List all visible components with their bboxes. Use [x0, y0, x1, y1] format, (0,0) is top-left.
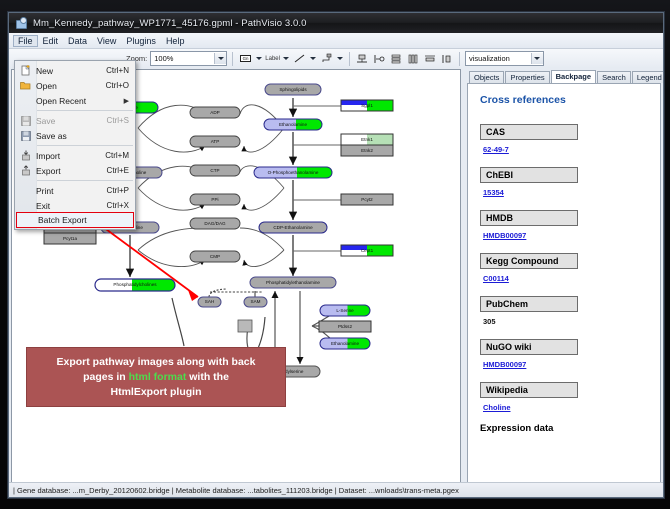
node-ppi: PPi — [190, 194, 240, 205]
annotation-line-2: pages in html format with the — [83, 370, 229, 385]
menu-item-label: Save as — [36, 131, 129, 141]
node-ethanolamine-bottom[interactable]: Ethanolamine — [320, 338, 370, 349]
gene-pcyt2[interactable]: Pcyt2 — [341, 194, 393, 205]
new-document-icon — [15, 63, 36, 78]
menu-item-import[interactable]: Import Ctrl+M — [15, 148, 135, 163]
menu-item-label: Save — [36, 116, 107, 126]
xref-source-label: Wikipedia — [480, 382, 578, 398]
menu-item-open-recent[interactable]: Open Recent ▶ — [15, 93, 135, 108]
annotation-highlight: html format — [129, 371, 187, 383]
menu-divider-3 — [37, 180, 133, 181]
screen-root: Mm_Kennedy_pathway_WP1771_45176.gpml - P… — [0, 0, 670, 509]
window-title: Mm_Kennedy_pathway_WP1771_45176.gpml - P… — [33, 18, 307, 29]
svg-text:Phosphatidylcholines: Phosphatidylcholines — [113, 282, 157, 287]
menu-divider-2 — [37, 145, 133, 146]
menu-item-label: Export — [36, 166, 107, 176]
open-folder-icon — [15, 78, 36, 93]
svg-text:ADP: ADP — [210, 110, 219, 115]
menu-item-print[interactable]: Print Ctrl+P — [15, 183, 135, 198]
cross-references-heading: Cross references — [480, 94, 650, 106]
menu-item-label: New — [36, 66, 106, 76]
pathvisio-icon — [15, 17, 27, 29]
gene-sgpl1[interactable]: Sgpl1 — [341, 100, 393, 111]
toolbar-separator-2 — [349, 52, 350, 66]
xref-value-link[interactable]: HMDB00097 — [480, 360, 650, 369]
node-cdp-ethanolamine[interactable]: CDP-Ethanolamine — [259, 222, 327, 233]
gene-ptdss2[interactable]: Ptdss2 — [319, 321, 371, 332]
svg-text:SAH: SAH — [205, 299, 214, 304]
menu-item-shortcut: Ctrl+S — [107, 116, 135, 125]
svg-text:PPi: PPi — [211, 197, 218, 202]
save-as-icon — [15, 128, 36, 143]
menu-view[interactable]: View — [92, 35, 121, 47]
submenu-arrow-icon: ▶ — [124, 97, 135, 105]
gene-pcyt1a[interactable]: Pcyt1a — [44, 233, 96, 244]
xref-source-label: PubChem — [480, 296, 578, 312]
cross-references-section: Cross references CAS 62-49-7 ChEBI 15354… — [468, 84, 660, 434]
menu-item-shortcut: Ctrl+N — [106, 66, 135, 75]
menu-data[interactable]: Data — [63, 35, 92, 47]
visualization-value: visualization — [469, 54, 510, 63]
annotation-banner: Export pathway images along with back pa… — [26, 347, 286, 407]
svg-text:Ethanolamine: Ethanolamine — [331, 341, 360, 346]
zoom-value: 100% — [154, 54, 173, 63]
width-button[interactable] — [423, 52, 437, 66]
menu-no-icon-4 — [17, 213, 38, 228]
title-bar: Mm_Kennedy_pathway_WP1771_45176.gpml - P… — [9, 13, 663, 33]
menu-edit[interactable]: Edit — [38, 35, 64, 47]
menu-item-label: Batch Export — [38, 215, 127, 225]
xref-chebi: ChEBI 15354 — [480, 165, 650, 197]
menu-item-label: Print — [36, 186, 107, 196]
menu-item-save: Save Ctrl+S — [15, 113, 135, 128]
metabolite-nodes: Choline Sphingolipids Ethanolamine Phosp… — [95, 84, 370, 377]
xref-wikipedia: Wikipedia Choline — [480, 380, 650, 412]
svg-text:Etnk2: Etnk2 — [361, 148, 373, 153]
node-ctp: CTP — [190, 165, 240, 176]
side-splitter[interactable] — [467, 84, 468, 496]
cofactor-nodes: ADP ATP CTP PPi DAG/DAG CMP — [190, 107, 240, 262]
annotation-line-2b: with the — [186, 371, 229, 383]
node-sam[interactable]: SAM — [244, 297, 267, 307]
node-sah[interactable]: SAH — [198, 297, 221, 307]
pathway-anchor — [238, 320, 252, 332]
tab-legend[interactable]: Legend — [632, 71, 664, 84]
menu-no-icon-2 — [15, 183, 36, 198]
node-o-phosphoethanolamine[interactable]: O-Phosphoethanolamine — [254, 167, 332, 178]
node-dag: DAG/DAG — [190, 218, 240, 229]
svg-text:DAG/DAG: DAG/DAG — [204, 221, 226, 226]
status-text: | Gene database: ...m_Derby_20120602.bri… — [13, 486, 459, 495]
xref-pubchem: PubChem 305 — [480, 294, 650, 326]
svg-text:CDP-Ethanolamine: CDP-Ethanolamine — [273, 225, 313, 230]
menu-item-export[interactable]: Export Ctrl+E — [15, 163, 135, 178]
menu-item-label: Open — [36, 81, 106, 91]
connector-dropdown-icon[interactable] — [337, 53, 344, 65]
svg-text:Ethanolamine: Ethanolamine — [279, 122, 308, 127]
menu-item-new[interactable]: New Ctrl+N — [15, 63, 135, 78]
xref-value-link[interactable]: 15354 — [480, 188, 650, 197]
svg-text:O-Phosphoethanolamine: O-Phosphoethanolamine — [268, 170, 319, 175]
menu-item-label: Open Recent — [36, 96, 124, 106]
gene-etnk1[interactable]: Etnk1 — [341, 134, 393, 145]
zoom-combo[interactable]: 100% — [150, 51, 227, 66]
tab-objects[interactable]: Objects — [469, 71, 504, 84]
expression-data-heading: Expression data — [480, 423, 650, 434]
menu-bar: File Edit Data View Plugins Help — [9, 33, 663, 49]
xref-source-label: NuGO wiki — [480, 339, 578, 355]
node-l-serine[interactable]: L-Serine — [320, 305, 370, 316]
node-cmp: CMP — [190, 251, 240, 262]
svg-text:CMP: CMP — [210, 254, 220, 259]
annotation-line-1: Export pathway images along with back — [57, 355, 256, 370]
chevron-down-icon-2[interactable] — [531, 53, 543, 64]
node-atp: ATP — [190, 136, 240, 147]
tab-search[interactable]: Search — [597, 71, 631, 84]
gene-cept1[interactable]: Cept1 — [341, 245, 393, 256]
svg-text:Etnk1: Etnk1 — [361, 137, 373, 142]
chevron-down-icon[interactable] — [214, 53, 226, 64]
svg-text:CTP: CTP — [210, 168, 219, 173]
xref-source-label: Kegg Compound — [480, 253, 578, 269]
svg-text:SAM: SAM — [251, 299, 261, 304]
xref-source-label: HMDB — [480, 210, 578, 226]
xref-source-label: ChEBI — [480, 167, 578, 183]
svg-text:Pcyt1a: Pcyt1a — [63, 236, 77, 241]
node-phosphatidylethanolamine[interactable]: Phosphatidylethanolamine — [250, 277, 336, 288]
gene-etnk2[interactable]: Etnk2 — [341, 145, 393, 156]
xref-cas: CAS 62-49-7 — [480, 122, 650, 154]
side-panel-tabs: Objects Properties Backpage Search Legen… — [462, 69, 661, 83]
distribute-button[interactable] — [406, 52, 420, 66]
svg-text:Pcyt2: Pcyt2 — [361, 197, 373, 202]
tab-properties[interactable]: Properties — [505, 71, 549, 84]
menu-item-shortcut: Ctrl+M — [105, 151, 135, 160]
svg-text:Cept1: Cept1 — [361, 248, 374, 253]
xref-nugo-wiki: NuGO wiki HMDB00097 — [480, 337, 650, 369]
toolbar-separator-3 — [459, 52, 460, 66]
datanode-dropdown-icon[interactable] — [255, 53, 262, 65]
toolbar-separator — [232, 52, 233, 66]
menu-file[interactable]: File — [13, 35, 38, 47]
node-sphingolipids[interactable]: Sphingolipids — [265, 84, 321, 95]
xref-source-label: CAS — [480, 124, 578, 140]
menu-item-shortcut: Ctrl+X — [107, 201, 135, 210]
node-phosphatidylcholines[interactable]: Phosphatidylcholines — [95, 279, 175, 291]
pathvisio-window: Mm_Kennedy_pathway_WP1771_45176.gpml - P… — [8, 12, 664, 498]
menu-help[interactable]: Help — [161, 35, 190, 47]
node-ethanolamine-top[interactable]: Ethanolamine — [264, 119, 322, 130]
tab-backpage[interactable]: Backpage — [551, 70, 596, 84]
svg-text:L-Serine: L-Serine — [336, 308, 354, 313]
line-dropdown-icon[interactable] — [310, 53, 317, 65]
menu-no-icon — [15, 93, 36, 108]
svg-text:Sphingolipids: Sphingolipids — [279, 87, 307, 92]
menu-item-label: Import — [36, 151, 105, 161]
save-disk-icon — [15, 113, 36, 128]
align-top-button[interactable] — [355, 52, 369, 66]
menu-no-icon-3 — [15, 198, 36, 213]
node-adp: ADP — [190, 107, 240, 118]
import-icon — [15, 148, 36, 163]
annotation-line-3: HtmlExport plugin — [111, 385, 202, 400]
annotation-line-2a: pages in — [83, 371, 129, 383]
svg-text:Ptdss2: Ptdss2 — [338, 324, 352, 329]
export-icon — [15, 163, 36, 178]
xref-value-text: 305 — [480, 317, 650, 326]
side-panel: Objects Properties Backpage Search Legen… — [462, 69, 661, 497]
xref-value-link[interactable]: Choline — [480, 403, 650, 412]
backpage-content: Cross references CAS 62-49-7 ChEBI 15354… — [467, 83, 661, 497]
height-button[interactable] — [440, 52, 454, 66]
svg-text:Gn: Gn — [242, 56, 248, 61]
xref-kegg-compound: Kegg Compound C00114 — [480, 251, 650, 283]
connector-button[interactable] — [320, 52, 334, 66]
line-button[interactable] — [293, 52, 307, 66]
label-dropdown-icon[interactable] — [283, 53, 290, 65]
menu-item-label: Exit — [36, 201, 107, 211]
svg-text:ATP: ATP — [211, 139, 220, 144]
status-bar: | Gene database: ...m_Derby_20120602.bri… — [9, 482, 663, 497]
xref-value-link[interactable]: HMDB00097 — [480, 231, 650, 240]
menu-item-batch-export[interactable]: Batch Export — [17, 213, 133, 227]
menu-item-shortcut: Ctrl+O — [106, 81, 135, 90]
xref-hmdb: HMDB HMDB00097 — [480, 208, 650, 240]
menu-item-shortcut: Ctrl+P — [107, 186, 135, 195]
menu-divider — [37, 110, 133, 111]
file-menu-dropdown[interactable]: New Ctrl+N Open Ctrl+O Open Recent ▶ — [14, 60, 136, 230]
stack-button[interactable] — [389, 52, 403, 66]
menu-item-open[interactable]: Open Ctrl+O — [15, 78, 135, 93]
menu-item-shortcut: Ctrl+E — [107, 166, 135, 175]
label-button[interactable]: Label — [265, 56, 280, 62]
datanode-button[interactable]: Gn — [238, 52, 252, 66]
menu-plugins[interactable]: Plugins — [121, 35, 161, 47]
menu-item-save-as[interactable]: Save as — [15, 128, 135, 143]
xref-value-link[interactable]: C00114 — [480, 274, 650, 283]
visualization-combo[interactable]: visualization — [465, 51, 544, 66]
menu-item-exit[interactable]: Exit Ctrl+X — [15, 198, 135, 213]
svg-text:Sgpl1: Sgpl1 — [361, 103, 373, 108]
svg-text:Phosphatidylethanolamine: Phosphatidylethanolamine — [266, 280, 320, 285]
align-left-button[interactable] — [372, 52, 386, 66]
xref-value-link[interactable]: 62-49-7 — [480, 145, 650, 154]
